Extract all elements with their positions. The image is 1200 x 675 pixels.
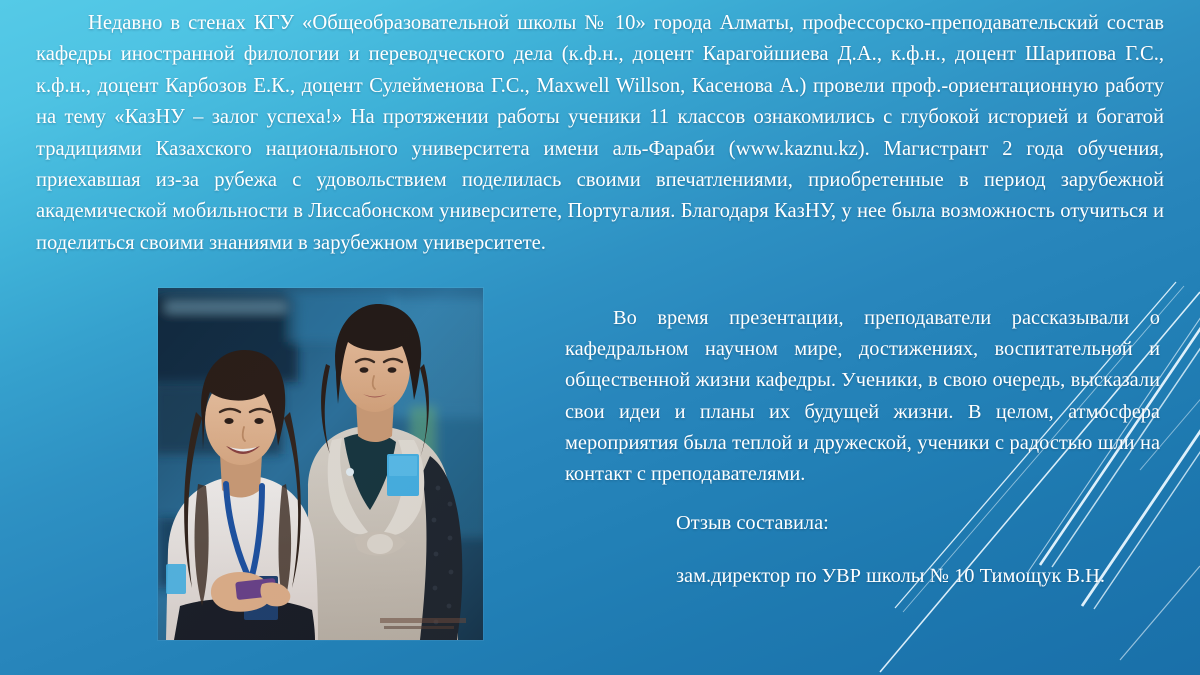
signature-intro-line: Отзыв составила: [676, 508, 1176, 538]
intro-paragraph: Недавно в стенах КГУ «Общеобразовательно… [36, 8, 1164, 259]
signature-author-line: зам.директор по УВР школы № 10 Тимощук В… [676, 561, 1176, 591]
slide-canvas: Недавно в стенах КГУ «Общеобразовательно… [0, 0, 1200, 675]
signature-block: Отзыв составила: зам.директор по УВР шко… [676, 508, 1176, 591]
two-women-photo [158, 288, 483, 640]
body-paragraph: Во время презентации, преподаватели расс… [565, 303, 1160, 490]
